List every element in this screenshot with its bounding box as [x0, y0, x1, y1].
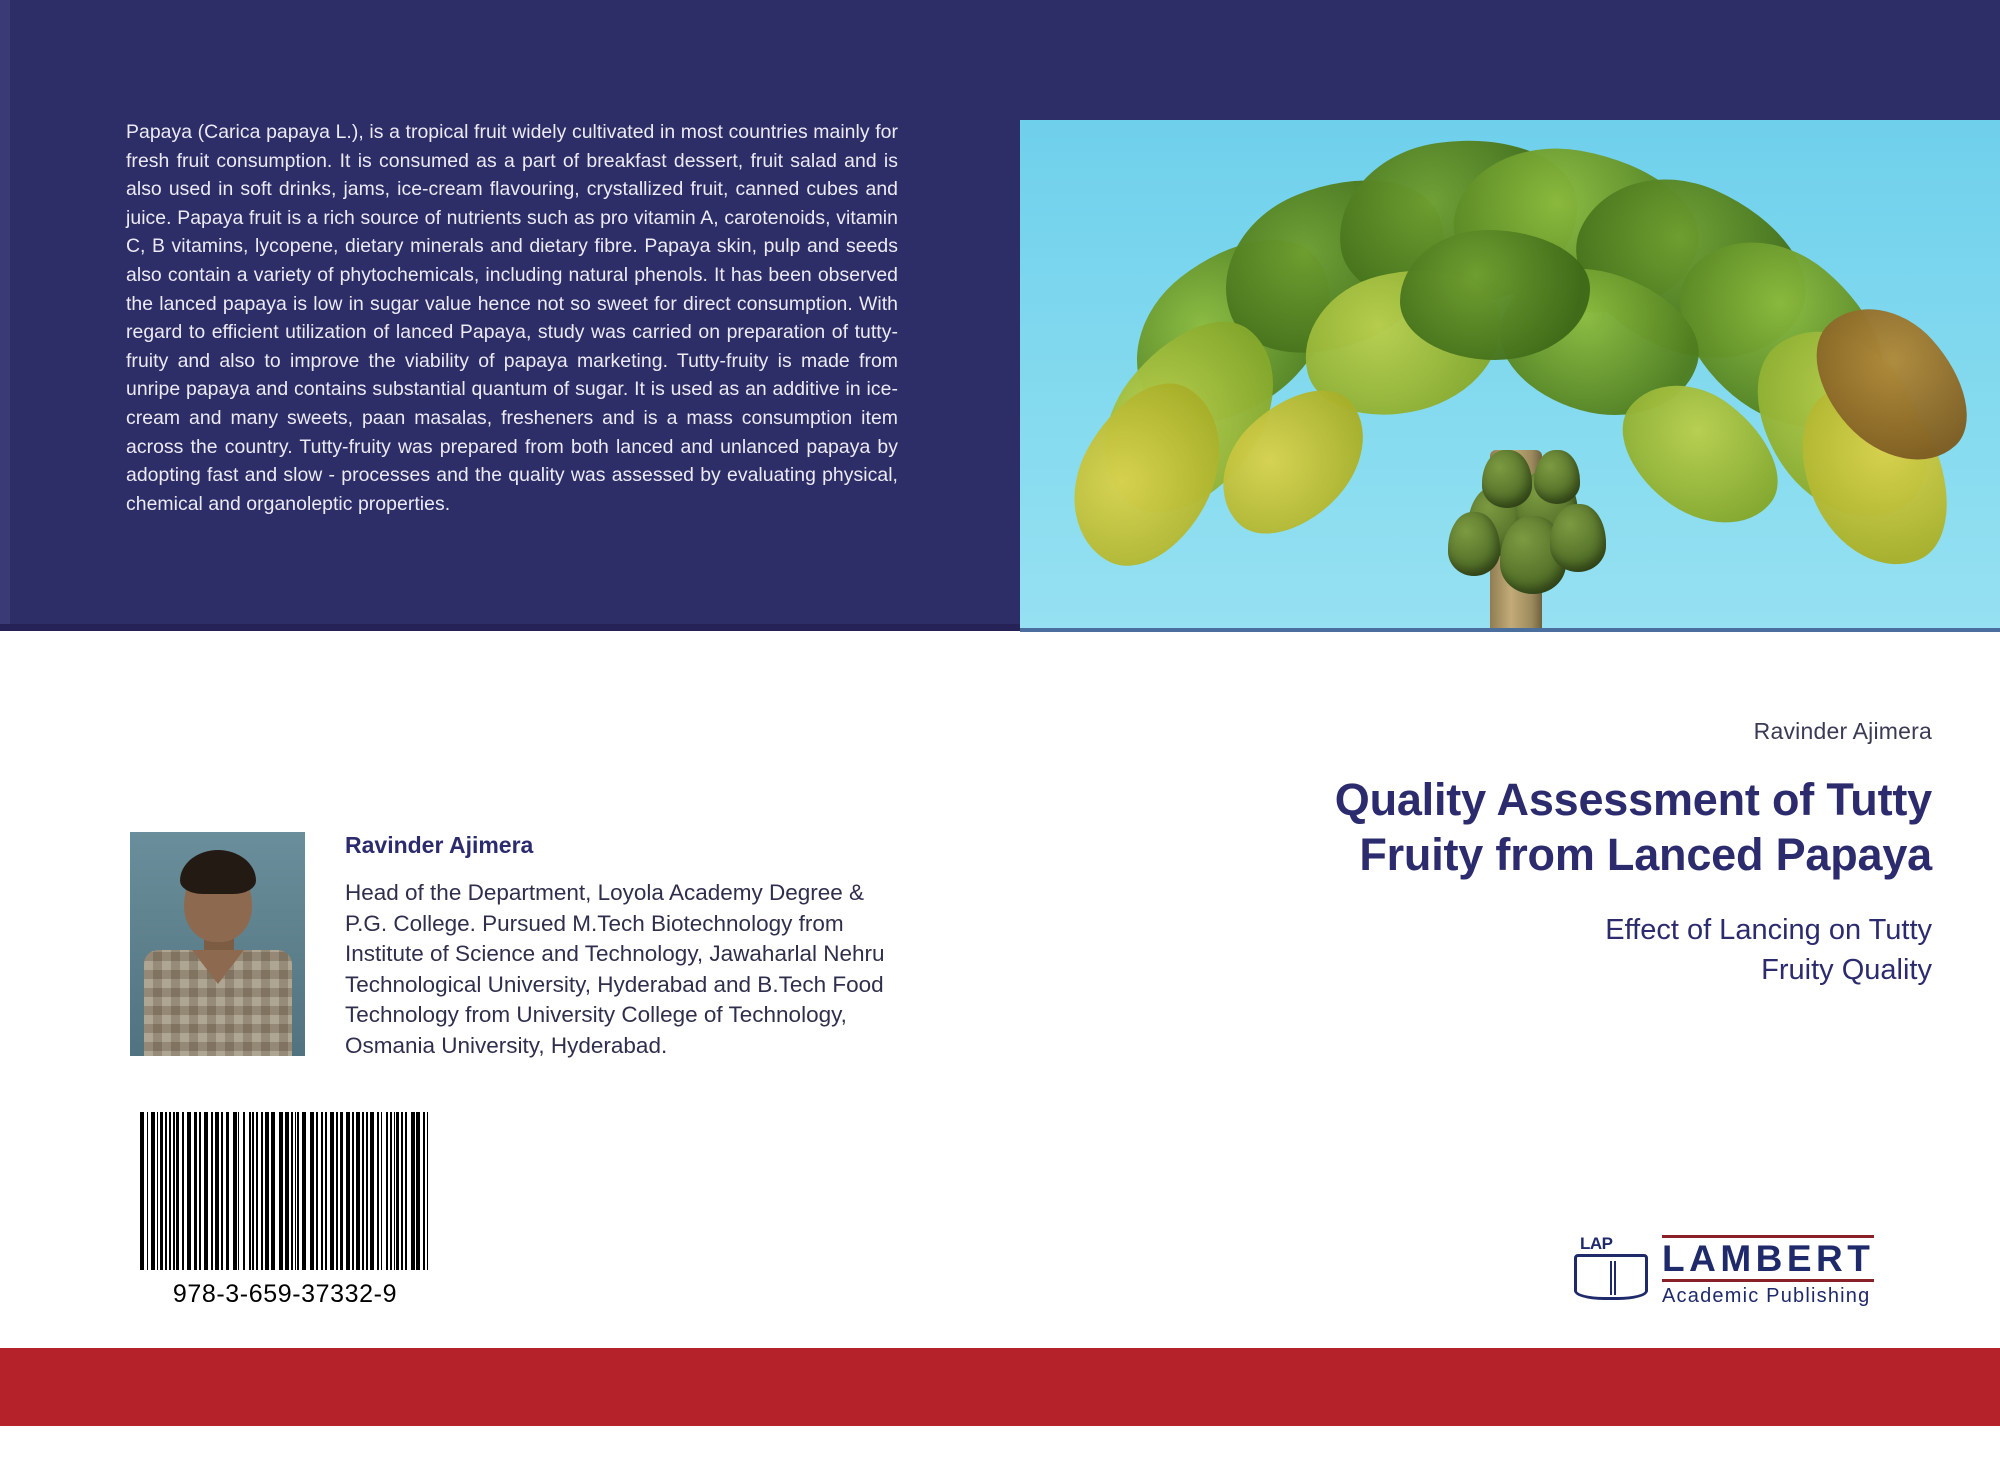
author-name: Ravinder Ajimera — [345, 832, 533, 859]
publisher-logo: LAP LAMBERT Academic Publishing — [1570, 1230, 1900, 1312]
cover-photo — [1020, 120, 2000, 631]
back-cover-blurb: Papaya (Carica papaya L.), is a tropical… — [126, 118, 898, 518]
front-cover-subtitle: Effect of Lancing on Tutty Fruity Qualit… — [1032, 910, 1932, 990]
author-photo — [130, 832, 305, 1056]
lap-badge-label: LAP — [1580, 1234, 1613, 1254]
barcode-area: 978-3-659-37332-9 — [140, 1112, 430, 1309]
book-glyph — [1574, 1254, 1648, 1300]
front-cover-author: Ravinder Ajimera — [1032, 718, 1932, 745]
front-cover-title: Quality Assessment of Tutty Fruity from … — [922, 772, 1932, 882]
isbn-number: 978-3-659-37332-9 — [140, 1280, 430, 1309]
title-line-1: Quality Assessment of Tutty — [922, 772, 1932, 827]
author-bio: Head of the Department, Loyola Academy D… — [345, 878, 890, 1061]
publisher-name: LAMBERT — [1662, 1235, 1874, 1282]
bottom-white-band — [0, 1426, 2000, 1469]
isbn-barcode — [140, 1112, 430, 1270]
bottom-red-band — [0, 1348, 2000, 1426]
subtitle-line-2: Fruity Quality — [1032, 950, 1932, 990]
publisher-tagline: Academic Publishing — [1662, 1285, 1874, 1308]
title-line-2: Fruity from Lanced Papaya — [922, 827, 1932, 882]
cover-photo-border — [1020, 628, 2000, 632]
papaya-fruit-cluster — [1430, 450, 1620, 595]
publisher-logo-text: LAMBERT Academic Publishing — [1662, 1235, 1874, 1308]
book-cover: Papaya (Carica papaya L.), is a tropical… — [0, 0, 2000, 1469]
spine-strip — [0, 0, 10, 631]
subtitle-line-1: Effect of Lancing on Tutty — [1032, 910, 1932, 950]
open-book-icon: LAP — [1570, 1232, 1652, 1310]
